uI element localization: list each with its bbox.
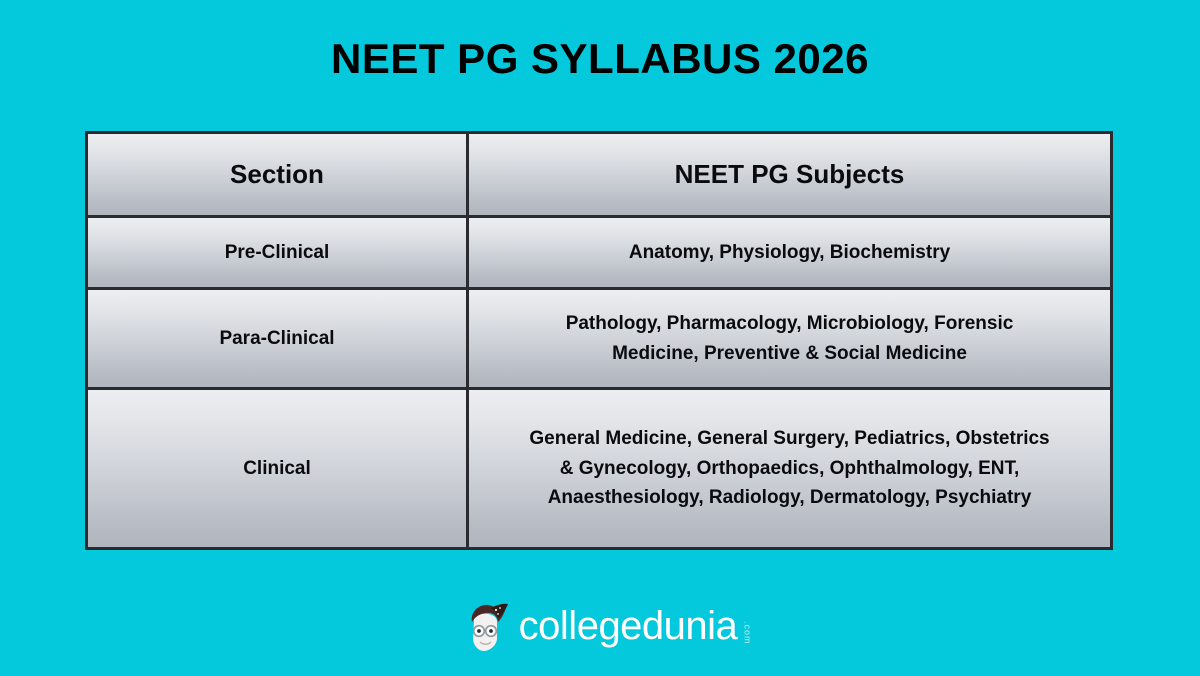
subject-line: General Medicine, General Surgery, Pedia… [529, 424, 1049, 453]
subject-line: Pathology, Pharmacology, Microbiology, F… [566, 309, 1014, 338]
page-title: NEET PG SYLLABUS 2026 [0, 36, 1200, 82]
logo-wordmark-text: collegedunia [519, 604, 738, 648]
subject-line: & Gynecology, Orthopaedics, Ophthalmolog… [529, 454, 1049, 483]
infographic-page: NEET PG SYLLABUS 2026 Section NEET PG Su… [0, 0, 1200, 676]
table-header-row: Section NEET PG Subjects [88, 134, 1110, 218]
syllabus-table: Section NEET PG Subjects Pre-Clinical An… [85, 131, 1113, 550]
cell-subjects-pre-clinical: Anatomy, Physiology, Biochemistry [469, 218, 1110, 287]
table-row: Pre-Clinical Anatomy, Physiology, Bioche… [88, 218, 1110, 290]
column-header-subjects: NEET PG Subjects [469, 134, 1110, 215]
logo-wordmark: collegedunia .com [519, 606, 738, 646]
cell-subjects-clinical: General Medicine, General Surgery, Pedia… [469, 390, 1110, 547]
table-row: Para-Clinical Pathology, Pharmacology, M… [88, 290, 1110, 390]
logo-tld: .com [742, 621, 751, 645]
cell-section-pre-clinical: Pre-Clinical [88, 218, 469, 287]
cell-section-para-clinical: Para-Clinical [88, 290, 469, 387]
cell-section-clinical: Clinical [88, 390, 469, 547]
subject-line: Medicine, Preventive & Social Medicine [566, 339, 1014, 368]
collegedunia-graduate-face-icon [463, 600, 509, 652]
subject-line: Anatomy, Physiology, Biochemistry [629, 238, 950, 267]
subject-line: Anaesthesiology, Radiology, Dermatology,… [529, 483, 1049, 512]
table-row: Clinical General Medicine, General Surge… [88, 390, 1110, 547]
cell-subjects-para-clinical: Pathology, Pharmacology, Microbiology, F… [469, 290, 1110, 387]
collegedunia-logo: collegedunia .com [0, 600, 1200, 652]
column-header-section: Section [88, 134, 469, 215]
